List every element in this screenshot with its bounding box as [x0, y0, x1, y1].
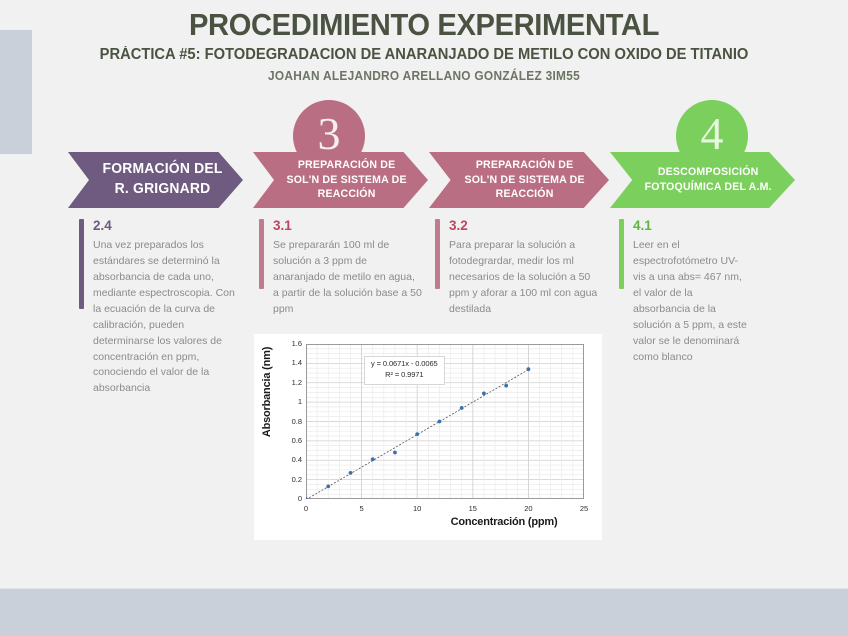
chevron-2-line2: SOL'N DE SISTEMA DE — [286, 173, 406, 188]
process-chevron-band: FORMACIÓN DEL R. GRIGNARD PREPARACIÓN DE… — [0, 152, 848, 208]
chart-y-tick: 0.4 — [276, 455, 302, 464]
chart-equation: y = 0.0671x - 0.0065 — [371, 359, 438, 370]
step-block-4-1: 4.1 Leer en el espectrofotómetro UV-vis … — [619, 219, 749, 365]
chevron-3-line2: SOL'N DE SISTEMA DE — [465, 173, 585, 188]
chart-plot-area — [306, 344, 584, 499]
chart-x-tick: 25 — [571, 504, 597, 513]
chart-y-tick: 1 — [276, 397, 302, 406]
chart-y-tick: 0.8 — [276, 417, 302, 426]
chart-x-tick: 20 — [515, 504, 541, 513]
chevron-preparacion-soln-1[interactable]: PREPARACIÓN DE SOL'N DE SISTEMA DE REACC… — [253, 152, 428, 208]
step-number: 2.4 — [93, 219, 239, 234]
chart-y-tick: 1.6 — [276, 339, 302, 348]
chevron-3-line1: PREPARACIÓN DE — [465, 158, 585, 173]
chart-y-tick: 1.4 — [276, 358, 302, 367]
chart-y-tick: 0.6 — [276, 436, 302, 445]
step-number: 3.2 — [449, 219, 603, 234]
step-number: 3.1 — [273, 219, 422, 234]
chevron-2-line1: PREPARACIÓN DE — [286, 158, 406, 173]
step-4-badge-number: 4 — [701, 111, 724, 157]
chevron-preparacion-soln-2[interactable]: PREPARACIÓN DE SOL'N DE SISTEMA DE REACC… — [429, 152, 609, 208]
page-title: PROCEDIMIENTO EXPERIMENTAL — [25, 8, 822, 41]
step-block-2-4: 2.4 Una vez preparados los estándares se… — [79, 219, 239, 397]
chart-x-tick: 5 — [349, 504, 375, 513]
chart-x-tick: 10 — [404, 504, 430, 513]
chevron-formacion-grignard[interactable]: FORMACIÓN DEL R. GRIGNARD — [68, 152, 243, 208]
calibration-curve-chart: Absorbancia (nm) Concentración (ppm) y =… — [254, 334, 602, 540]
chevron-1-line1: FORMACIÓN DEL — [102, 160, 222, 180]
chart-x-axis-label: Concentración (ppm) — [414, 516, 594, 528]
chart-x-tick: 0 — [293, 504, 319, 513]
chart-y-tick: 0.2 — [276, 475, 302, 484]
chart-trendline-annotation: y = 0.0671x - 0.0065 R² = 0.9971 — [364, 356, 445, 385]
chart-svg — [306, 344, 584, 499]
chart-y-axis-label: Absorbancia (nm) — [261, 332, 273, 452]
step-3-badge-number: 3 — [318, 111, 341, 157]
author-line: JOAHAN ALEJANDRO ARELLANO GONZÁLEZ 3IM55 — [21, 69, 827, 84]
chevron-1-line2: R. GRIGNARD — [102, 180, 222, 200]
step-number: 4.1 — [633, 219, 749, 234]
chart-r-squared: R² = 0.9971 — [371, 370, 438, 381]
chevron-4-line2: FOTOQUÍMICA DEL A.M. — [645, 180, 772, 195]
step-block-3-2: 3.2 Para preparar la solución a fotodegr… — [435, 219, 603, 318]
step-text: Leer en el espectrofotómetro UV-vis a un… — [633, 238, 749, 366]
step-text: Una vez preparados los estándares se det… — [93, 238, 239, 398]
chevron-3-line3: REACCIÓN — [465, 187, 585, 202]
bottom-accent-bar — [0, 589, 848, 636]
chevron-descomposicion-fotoquimica[interactable]: DESCOMPOSICIÓN FOTOQUÍMICA DEL A.M. — [610, 152, 795, 208]
chevron-2-line3: REACCIÓN — [286, 187, 406, 202]
chevron-4-line1: DESCOMPOSICIÓN — [645, 165, 772, 180]
header: PROCEDIMIENTO EXPERIMENTAL PRÁCTICA #5: … — [0, 8, 848, 84]
page-subtitle: PRÁCTICA #5: FOTODEGRADACION DE ANARANJA… — [21, 46, 827, 65]
chart-y-tick: 0 — [276, 494, 302, 503]
chart-x-tick: 15 — [460, 504, 486, 513]
step-block-3-1: 3.1 Se prepararán 100 ml de solución a 3… — [259, 219, 422, 318]
step-text: Para preparar la solución a fotodegrarda… — [449, 238, 603, 318]
chart-y-tick: 1.2 — [276, 378, 302, 387]
step-text: Se prepararán 100 ml de solución a 3 ppm… — [273, 238, 422, 318]
